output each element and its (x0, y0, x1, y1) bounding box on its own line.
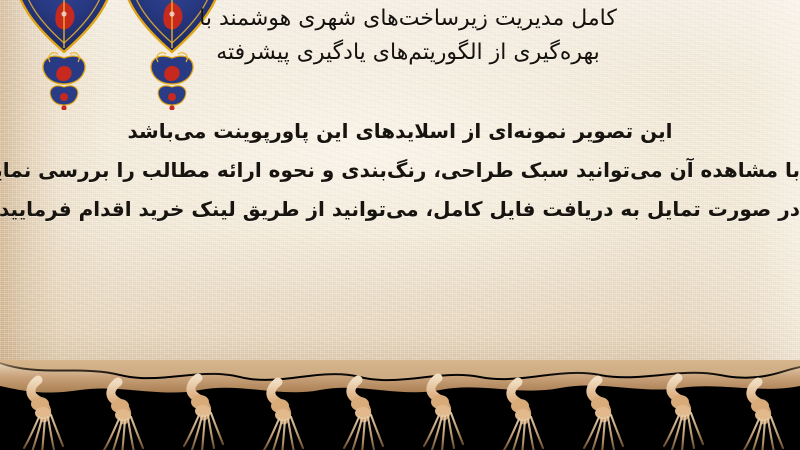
slide-canvas: کامل مدیریت زیرساخت‌های شهری هوشمند با ب… (0, 0, 800, 450)
body-line-1: این تصویر نمونه‌ای از اسلایدهای این پاور… (0, 112, 800, 151)
text-layer: کامل مدیریت زیرساخت‌های شهری هوشمند با ب… (0, 0, 800, 378)
slide-title: کامل مدیریت زیرساخت‌های شهری هوشمند با ب… (108, 2, 708, 70)
tassel-row-icon (0, 360, 800, 450)
title-line-2: بهره‌گیری از الگوریتم‌های یادگیری پیشرفت… (108, 36, 708, 70)
carpet-fringe (0, 360, 800, 450)
title-line-1: کامل مدیریت زیرساخت‌های شهری هوشمند با (108, 2, 708, 36)
body-line-2: با مشاهده آن می‌توانید سبک طراحی، رنگ‌بن… (0, 151, 800, 190)
slide-body: این تصویر نمونه‌ای از اسلایدهای این پاور… (0, 112, 800, 229)
body-line-3: در صورت تمایل به دریافت فایل کامل، می‌تو… (0, 190, 800, 229)
